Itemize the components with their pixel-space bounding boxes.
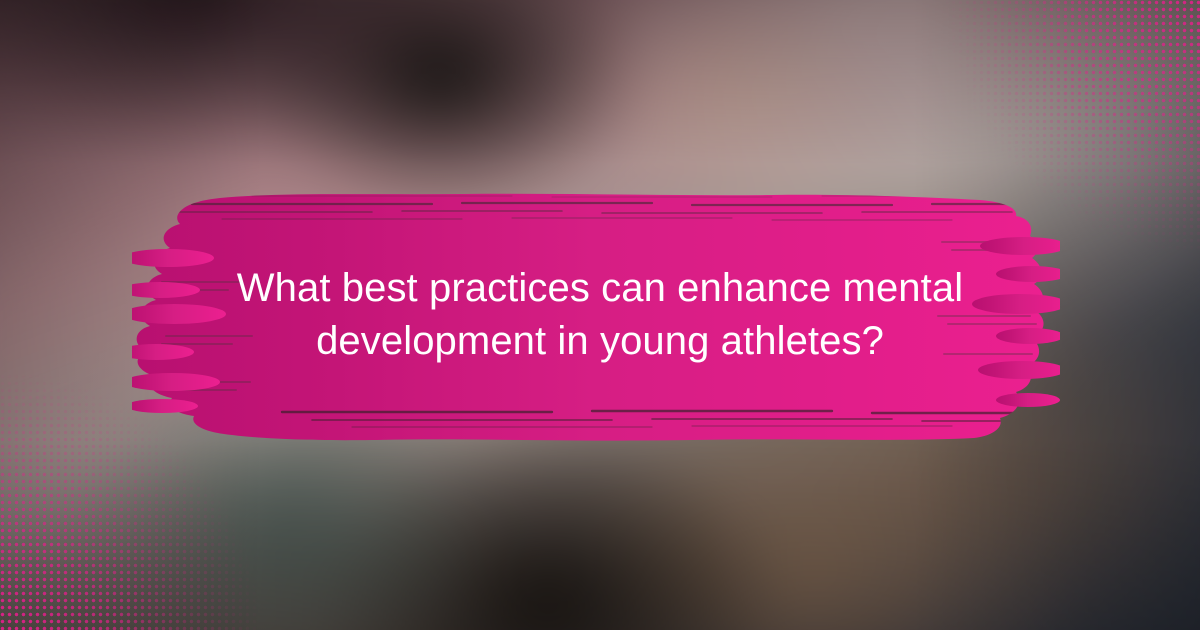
question-card: What best practices can enhance mental d… xyxy=(0,0,1200,630)
headline-text: What best practices can enhance mental d… xyxy=(150,262,1050,368)
